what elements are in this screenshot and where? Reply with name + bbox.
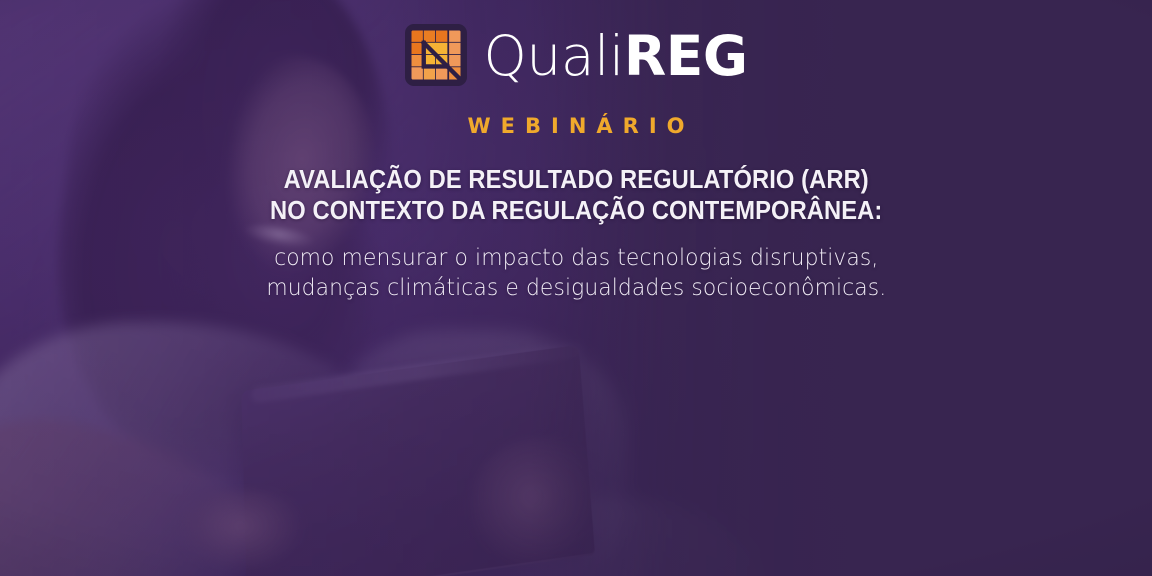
webinar-banner: QualiREG WEBINÁRIO AVALIAÇÃO DE RESULTAD… (0, 0, 1152, 576)
page-subtitle-line-1: como mensurar o impacto das tecnologias … (266, 244, 886, 274)
page-title: AVALIAÇÃO DE RESULTADO REGULATÓRIO (ARR)… (270, 165, 882, 226)
qualireg-grid-logo-icon (405, 24, 467, 86)
brand-wordmark-light: Quali (484, 29, 624, 84)
banner-content: QualiREG WEBINÁRIO AVALIAÇÃO DE RESULTAD… (0, 0, 1152, 576)
brand-wordmark: QualiREG (484, 29, 748, 84)
page-title-line-2: NO CONTEXTO DA REGULAÇÃO CONTEMPORÂNEA: (270, 196, 882, 227)
brand-wordmark-bold: REG (624, 29, 748, 84)
page-subtitle: como mensurar o impacto das tecnologias … (266, 244, 886, 304)
page-title-line-1: AVALIAÇÃO DE RESULTADO REGULATÓRIO (ARR) (270, 165, 882, 196)
brand-logo: QualiREG (405, 22, 748, 88)
event-type-label: WEBINÁRIO (458, 114, 695, 138)
page-subtitle-line-2: mudanças climáticas e desigualdades soci… (266, 274, 886, 304)
